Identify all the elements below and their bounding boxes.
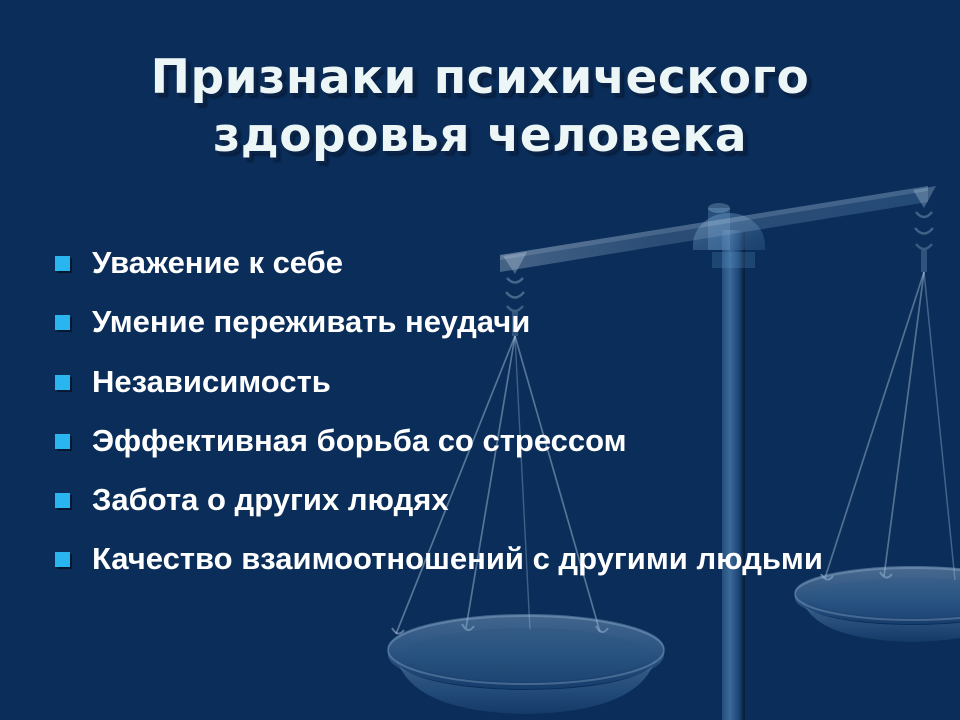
presentation-slide: Признаки психического здоровья человека … [0, 0, 960, 720]
list-item-label: Уважение к себе [92, 243, 885, 283]
square-bullet-icon [55, 256, 70, 271]
square-bullet-icon [55, 375, 70, 390]
bullet-list: Уважение к себе Умение переживать неудач… [55, 243, 885, 580]
list-item-label: Качество взаимоотношений с другими людьм… [92, 539, 885, 579]
scale-pan-left [388, 614, 664, 689]
square-bullet-icon [55, 552, 70, 567]
square-bullet-icon [55, 434, 70, 449]
list-item-label: Независимость [92, 362, 885, 402]
square-bullet-icon [55, 493, 70, 508]
list-item-label: Забота о других людях [92, 480, 885, 520]
list-item: Независимость [55, 362, 885, 402]
list-item: Уважение к себе [55, 243, 885, 283]
list-item-label: Эффективная борьба со стрессом [92, 421, 885, 461]
list-item: Забота о других людях [55, 480, 885, 520]
list-item: Эффективная борьба со стрессом [55, 421, 885, 461]
square-bullet-icon [55, 315, 70, 330]
list-item: Умение переживать неудачи [55, 302, 885, 342]
list-item: Качество взаимоотношений с другими людьм… [55, 539, 885, 579]
list-item-label: Умение переживать неудачи [92, 302, 885, 342]
slide-title: Признаки психического здоровья человека [0, 49, 960, 164]
